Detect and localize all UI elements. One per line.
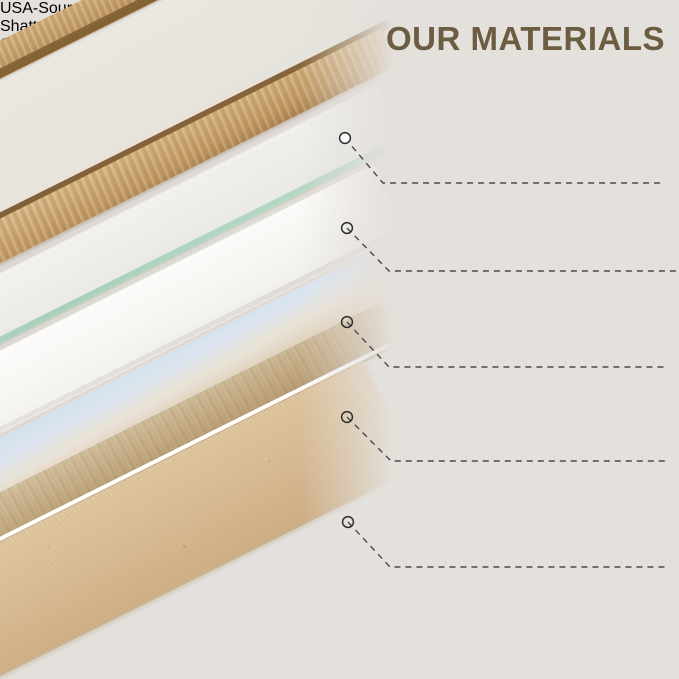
infographic-canvas: OUR MATERIALS USA-Sourced Oak WoodShatte… bbox=[0, 0, 679, 679]
page-title: OUR MATERIALS bbox=[386, 20, 665, 58]
product-exploded-view-photo bbox=[0, 0, 420, 679]
